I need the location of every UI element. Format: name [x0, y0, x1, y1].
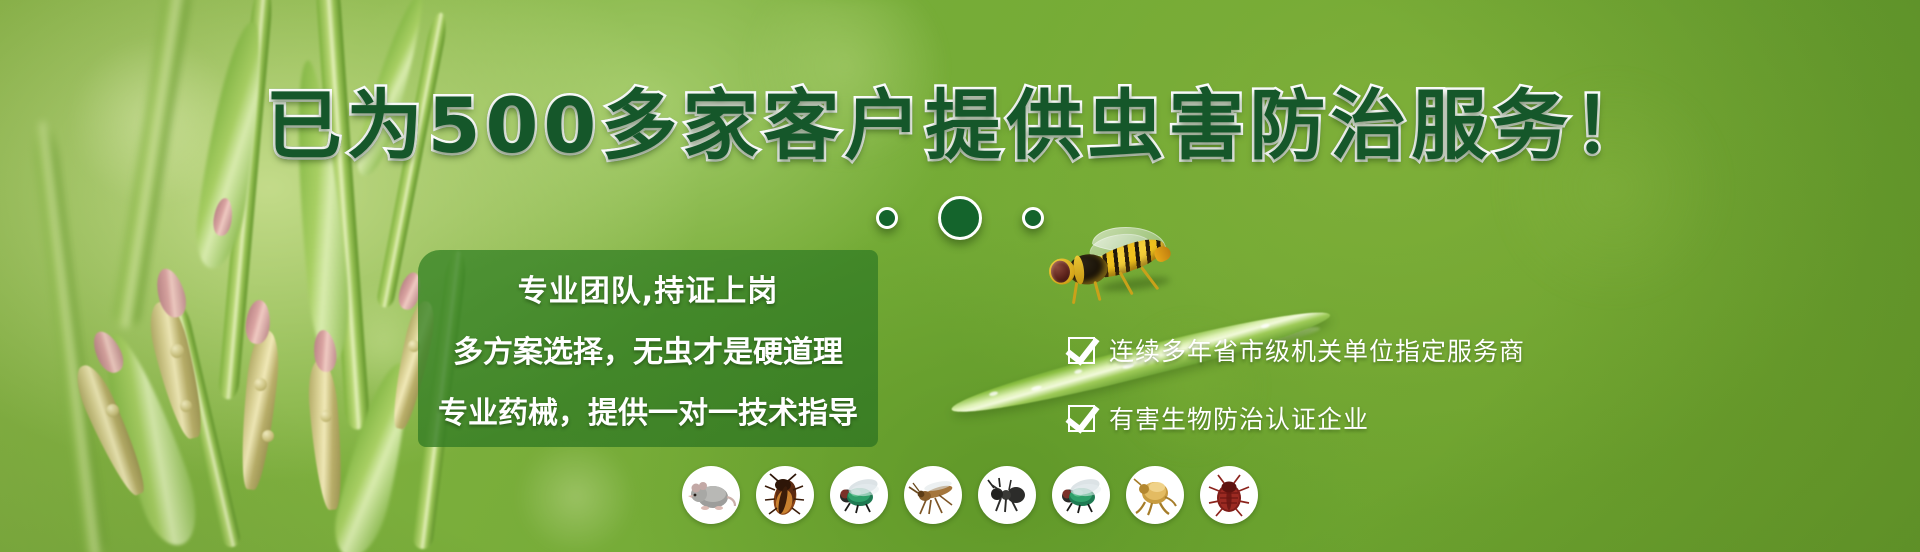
feature-line-3: 专业药械，提供一对一技术指导: [438, 388, 858, 432]
credentials-list: 连续多年省市级机关单位指定服务商 有害生物防治认证企业: [1068, 332, 1525, 436]
pest-control-hero-banner: 已为500多家客户提供虫害防治服务！ 专业团队,持证上岗 多方案选择，无虫才是硬…: [0, 0, 1920, 552]
dot-small-right: [1022, 207, 1044, 229]
housefly-icon[interactable]: [1052, 466, 1110, 524]
feature-line-2: 多方案选择，无虫才是硬道理: [453, 327, 843, 371]
feature-highlight-box: 专业团队,持证上岗 多方案选择，无虫才是硬道理 专业药械，提供一对一技术指导: [418, 250, 878, 447]
rat-icon[interactable]: [682, 466, 740, 524]
mosquito-icon[interactable]: [904, 466, 962, 524]
bedbug-icon[interactable]: [1200, 466, 1258, 524]
checkbox-checked-icon: [1068, 405, 1095, 432]
bullet-label: 连续多年省市级机关单位指定服务商: [1109, 332, 1525, 368]
decorative-dots: [0, 196, 1920, 240]
page-title-text: 已为500多家客户提供虫害防治服务！: [266, 81, 1655, 170]
feature-line-1: 专业团队,持证上岗: [518, 266, 778, 310]
flea-icon[interactable]: [1126, 466, 1184, 524]
page-title: 已为500多家客户提供虫害防治服务！: [0, 88, 1920, 164]
bullet-label: 有害生物防治认证企业: [1109, 400, 1369, 436]
fly-icon[interactable]: [830, 466, 888, 524]
dot-large-center: [938, 196, 982, 240]
pest-types-row: [682, 466, 1258, 524]
list-item: 连续多年省市级机关单位指定服务商: [1068, 332, 1525, 368]
checkbox-checked-icon: [1068, 337, 1095, 364]
ant-icon[interactable]: [978, 466, 1036, 524]
list-item: 有害生物防治认证企业: [1068, 400, 1525, 436]
dot-small-left: [876, 207, 898, 229]
cockroach-icon[interactable]: [756, 466, 814, 524]
